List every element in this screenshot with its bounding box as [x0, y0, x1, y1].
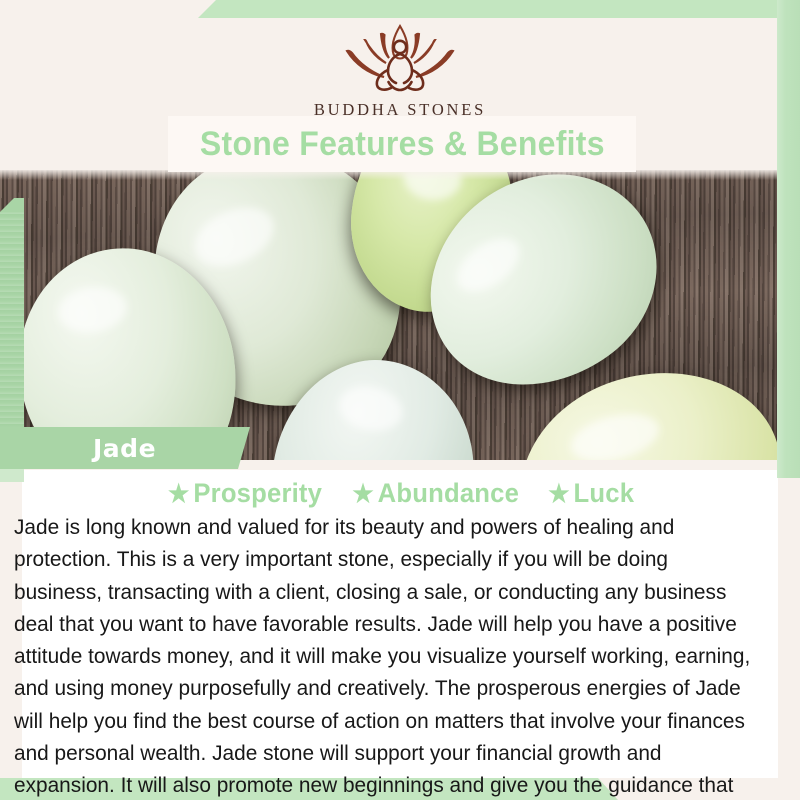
stone-name-label: Jade — [93, 434, 156, 463]
star-icon: ★ — [168, 480, 189, 508]
benefit-label: Luck — [574, 478, 635, 508]
benefit-label: Prosperity — [193, 478, 322, 508]
lotus-meditation-icon — [0, 20, 800, 98]
stone-photo — [0, 170, 800, 460]
benefit-label: Abundance — [378, 478, 519, 508]
benefit-item: ★Abundance — [353, 478, 520, 509]
benefits-row: ★Prosperity ★Abundance ★Luck — [0, 478, 800, 509]
decor-left-green-bar — [0, 212, 24, 460]
benefit-item: ★Luck — [548, 478, 634, 509]
page-title: Stone Features & Benefits — [200, 125, 605, 164]
star-icon: ★ — [353, 480, 374, 508]
stone-info-poster: BUDDHA STONES Stone Features & Benefits … — [0, 0, 800, 800]
star-icon: ★ — [548, 480, 569, 508]
title-panel: Stone Features & Benefits — [168, 116, 636, 172]
decor-right-green-bar — [777, 0, 800, 478]
stone-name-banner: Jade — [0, 427, 250, 469]
brand-logo: BUDDHA STONES — [0, 20, 800, 120]
stone-description: Jade is long known and valued for its be… — [14, 511, 761, 800]
benefit-item: ★Prosperity — [168, 478, 322, 509]
